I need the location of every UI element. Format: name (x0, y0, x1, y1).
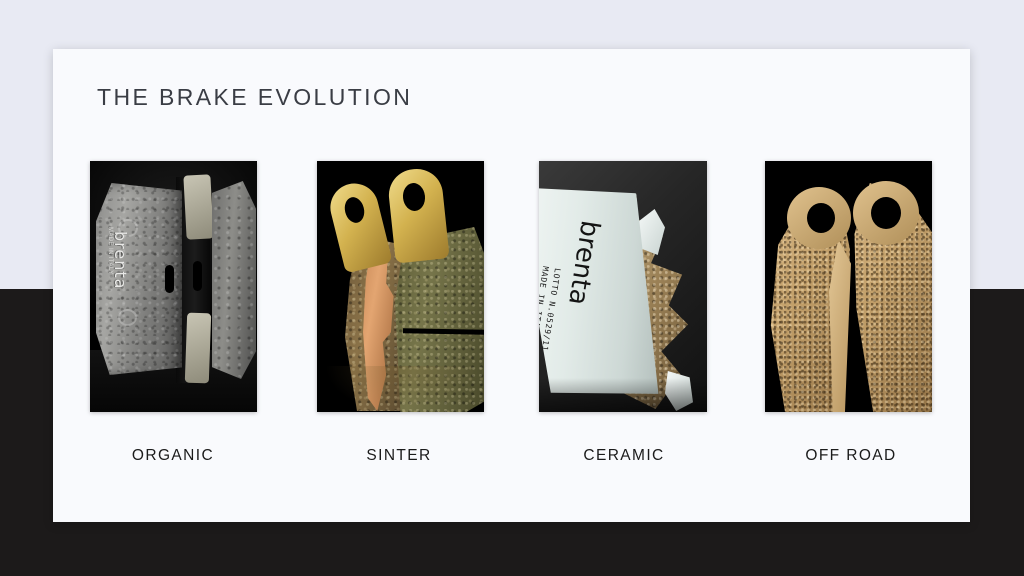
page-title: THE BRAKE EVOLUTION (97, 84, 412, 111)
product-label-sinter: SINTER (299, 447, 499, 465)
pad-slot-left (165, 265, 174, 293)
friction-chunk-bottom (185, 313, 211, 384)
ceramic-pad-photo: brenta LOTTO N.0529/11 MADE IN ITALY (539, 161, 707, 412)
pad-stamp-ring-bottom (118, 309, 137, 326)
pad-pin-hole-right (871, 197, 901, 229)
product-labels: ORGANIC SINTER CERAMIC OFF ROAD (53, 447, 970, 487)
product-image-ceramic[interactable]: brenta LOTTO N.0529/11 MADE IN ITALY (539, 161, 707, 412)
slide-canvas: THE BRAKE EVOLUTION brenta MA (0, 0, 1024, 576)
product-label-organic: ORGANIC (73, 447, 273, 465)
off-road-pad-photo (765, 161, 932, 412)
pad-origin-text: MADE IN ITALY (105, 227, 114, 275)
pad-right-body (212, 181, 256, 379)
friction-chunk-top (183, 174, 213, 239)
product-image-sinter[interactable] (317, 161, 484, 412)
photo-floor-shadow (539, 378, 707, 412)
product-image-off-road[interactable] (765, 161, 932, 412)
pad-slot-right (193, 261, 202, 291)
product-label-ceramic: CERAMIC (524, 447, 724, 465)
sinter-pad-photo (317, 161, 484, 412)
organic-pad-photo: brenta MADE IN ITALY (90, 161, 257, 412)
product-image-organic[interactable]: brenta MADE IN ITALY (90, 161, 257, 412)
photo-floor-glow (327, 366, 477, 412)
product-gallery: brenta MADE IN ITALY (53, 161, 970, 421)
pad-pin-hole-left (807, 203, 835, 233)
content-card: THE BRAKE EVOLUTION brenta MA (53, 49, 970, 522)
product-label-off-road: OFF ROAD (751, 447, 951, 465)
